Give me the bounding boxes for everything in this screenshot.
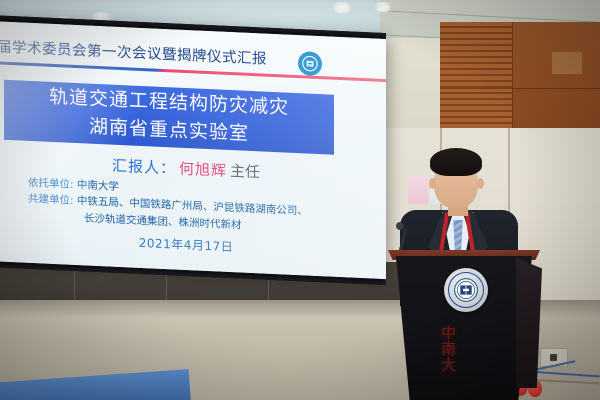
- conference-photo-scene: 首届学术委员会第一次会议暨揭牌仪式汇报 轨道交通工程结构防灾减灾 湖南省重点实验…: [0, 0, 600, 400]
- speaker-ear: [429, 178, 436, 189]
- speaker-ear: [477, 178, 484, 189]
- wood-slat-texture: [440, 22, 512, 130]
- podium-front-text: 中 南 大: [434, 326, 464, 373]
- ceiling-downlight: [330, 2, 354, 13]
- podium-char-3: 大: [434, 358, 464, 374]
- presenter-role: 主任: [230, 162, 260, 181]
- affiliation-block: 依托单位: 中南大学 共建单位: 中铁五局、中国铁路广州局、沪昆铁路湖南公司、 …: [28, 175, 308, 237]
- slide-title-banner: 轨道交通工程结构防灾减灾 湖南省重点实验室: [4, 80, 334, 155]
- csu-seal-emblem: [444, 268, 488, 312]
- presenter-name: 何旭辉: [179, 160, 227, 180]
- speaker-hair: [430, 148, 482, 176]
- slide-surface: 首届学术委员会第一次会议暨揭牌仪式汇报 轨道交通工程结构防灾减灾 湖南省重点实验…: [0, 21, 386, 279]
- affiliation-label: 共建单位:: [28, 193, 74, 207]
- slide-date: 2021年4月17日: [0, 227, 386, 262]
- wood-panel-seam: [440, 88, 600, 89]
- emblem-ring: [448, 272, 484, 308]
- affiliation-value: 中南大学: [77, 179, 119, 193]
- ceiling-downlight: [372, 2, 394, 12]
- slide-title-line-2: 湖南省重点实验室: [89, 114, 249, 149]
- projection-screen: 首届学术委员会第一次会议暨揭牌仪式汇报 轨道交通工程结构防灾减灾 湖南省重点实验…: [0, 21, 386, 279]
- presenter-label: 汇报人：: [112, 157, 176, 178]
- wood-panel-seam: [512, 22, 513, 130]
- wall-plaque: [552, 52, 582, 74]
- microphone-head: [396, 222, 404, 230]
- csu-logo-icon: [298, 51, 322, 76]
- affiliation-label: 依托单位:: [28, 177, 74, 191]
